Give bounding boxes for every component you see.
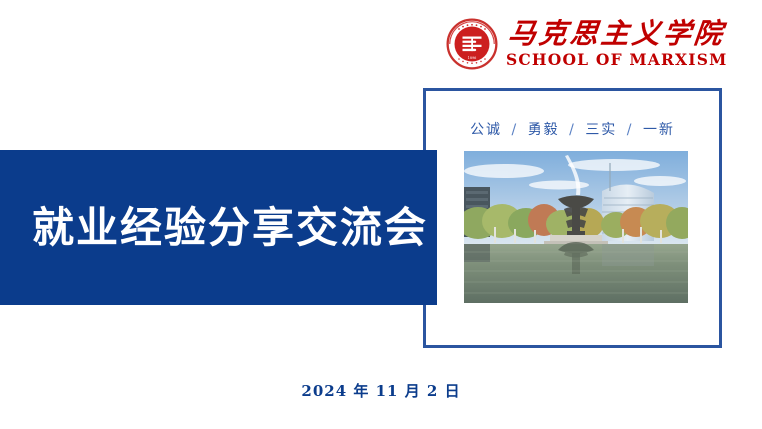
motto-item-3: 三实	[585, 122, 617, 138]
school-motto: 公诚 / 勇毅 / 三实 / 一新	[423, 121, 722, 139]
motto-item-2: 勇毅	[528, 122, 560, 138]
svg-text:1896: 1896	[468, 56, 477, 60]
motto-separator: /	[509, 122, 522, 138]
motto-item-4: 一新	[643, 122, 675, 138]
motto-separator: /	[624, 122, 637, 138]
slide-date: 2024 年 11 月 2 日	[0, 381, 762, 401]
page-title: 就业经验分享交流会	[32, 203, 428, 253]
school-logo-text: 马克思主义学院 SCHOOL OF MARXISM	[506, 19, 727, 69]
school-seal-emblem: 1896	[446, 18, 498, 70]
motto-separator: /	[566, 122, 579, 138]
motto-item-1: 公诚	[470, 122, 502, 138]
school-logo: 1896 马克思主义学院 SCHOOL OF MARXISM	[446, 12, 696, 76]
school-name-chinese: 马克思主义学院	[507, 19, 727, 49]
campus-fountain-lake-photo	[464, 151, 688, 303]
title-banner: 就业经验分享交流会	[0, 150, 437, 305]
school-name-english: SCHOOL OF MARXISM	[506, 51, 727, 69]
presentation-slide: 1896 马克思主义学院 SCHOOL OF MARXISM 公诚 / 勇毅 /…	[0, 0, 762, 429]
